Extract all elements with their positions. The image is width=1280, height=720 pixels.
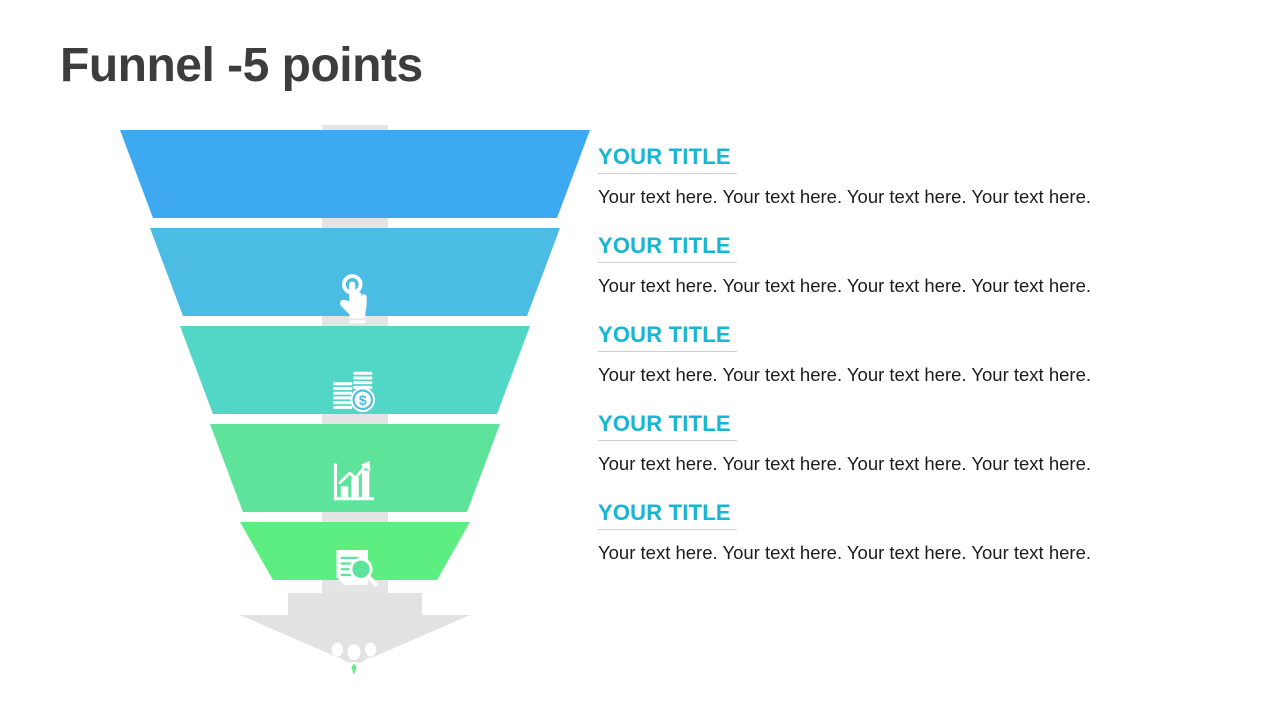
page-title: Funnel -5 points xyxy=(60,38,423,93)
funnel-diagram: $ xyxy=(110,125,600,670)
coins-money-icon: $ xyxy=(326,363,382,419)
funnel-text-column: YOUR TITLE Your text here. Your text her… xyxy=(598,144,1238,589)
row-title: YOUR TITLE xyxy=(598,500,737,530)
row-body: Your text here. Your text here. Your tex… xyxy=(598,363,1238,387)
row-title: YOUR TITLE xyxy=(598,233,737,263)
row-body: Your text here. Your text here. Your tex… xyxy=(598,274,1238,298)
row-body: Your text here. Your text here. Your tex… xyxy=(598,185,1238,209)
svg-text:$: $ xyxy=(359,392,367,408)
row-title: YOUR TITLE xyxy=(598,144,737,174)
bar-chart-growth-icon xyxy=(326,453,382,509)
team-people-icon xyxy=(326,633,382,689)
text-row: YOUR TITLE Your text here. Your text her… xyxy=(598,144,1238,233)
row-title: YOUR TITLE xyxy=(598,322,737,352)
text-row: YOUR TITLE Your text here. Your text her… xyxy=(598,233,1238,322)
document-search-icon xyxy=(326,543,382,599)
row-title: YOUR TITLE xyxy=(598,411,737,441)
row-body: Your text here. Your text here. Your tex… xyxy=(598,541,1238,565)
funnel-segment-1[interactable] xyxy=(120,130,590,218)
slide-canvas: Funnel -5 points xyxy=(0,0,1280,720)
text-row: YOUR TITLE Your text here. Your text her… xyxy=(598,500,1238,589)
hand-pointer-icon xyxy=(326,273,382,329)
row-body: Your text here. Your text here. Your tex… xyxy=(598,452,1238,476)
text-row: YOUR TITLE Your text here. Your text her… xyxy=(598,322,1238,411)
text-row: YOUR TITLE Your text here. Your text her… xyxy=(598,411,1238,500)
